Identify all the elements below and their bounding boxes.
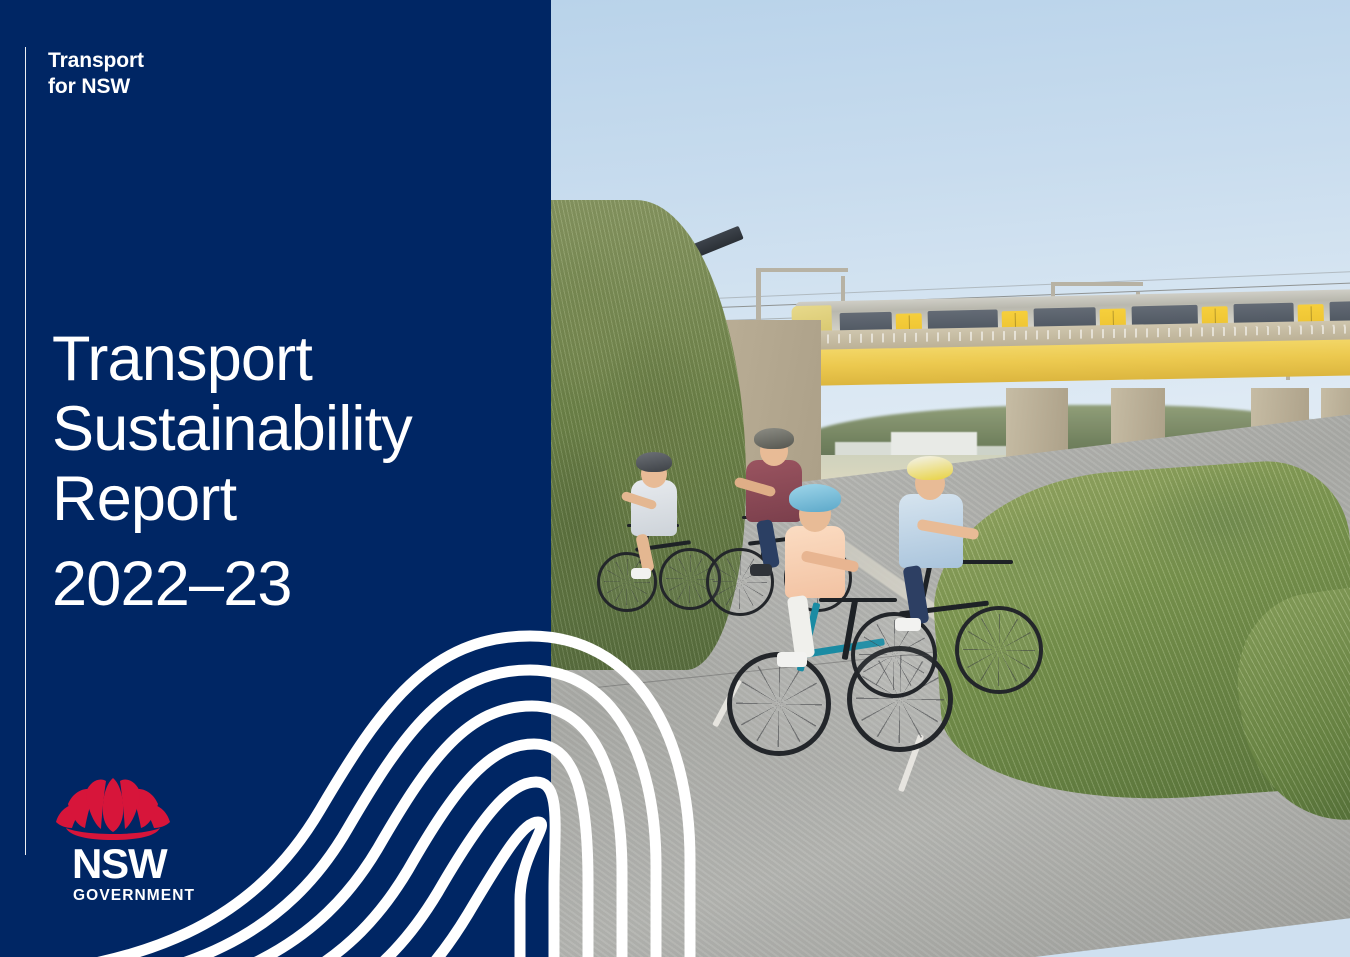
nsw-wordmark: NSW — [72, 845, 218, 884]
government-subtext: GOVERNMENT — [73, 887, 218, 905]
brand-line-1: Transport — [48, 48, 144, 74]
cyclist-boy — [591, 440, 721, 650]
brand-line-2: for NSW — [48, 74, 144, 100]
vertical-rule — [25, 47, 26, 855]
title-line-1: Transport — [52, 324, 522, 394]
transport-for-nsw-wordmark: Transport for NSW — [48, 48, 144, 100]
rider-shoe — [895, 618, 921, 631]
title-line-2: Sustainability — [52, 394, 522, 464]
nsw-government-logo: NSW GOVERNMENT — [48, 778, 218, 905]
report-cover: RIVERCAT — [0, 0, 1350, 957]
catenary-gantry — [1051, 282, 1143, 286]
bicycle-wheel — [955, 606, 1043, 694]
title-line-3: Report — [52, 464, 522, 534]
bicycle-helmet — [636, 452, 672, 472]
bicycle-wheel — [851, 612, 937, 698]
bicycle-wheel — [727, 652, 831, 756]
catenary-gantry — [756, 268, 848, 272]
bicycle-helmet — [907, 456, 953, 480]
title-year: 2022–23 — [52, 549, 522, 619]
bicycle-helmet — [789, 484, 841, 512]
navy-title-panel: Transport for NSW Transport Sustainabili… — [0, 0, 551, 957]
rider-leg — [787, 595, 815, 659]
rider-shoe — [777, 652, 807, 667]
cyclist-woman — [851, 448, 1051, 718]
bicycle-helmet — [754, 428, 794, 449]
cover-photograph: RIVERCAT — [551, 0, 1350, 957]
nsw-waratah-icon — [54, 778, 172, 841]
rider-shoe — [631, 568, 651, 579]
page-title: Transport Sustainability Report 2022–23 — [52, 324, 522, 619]
